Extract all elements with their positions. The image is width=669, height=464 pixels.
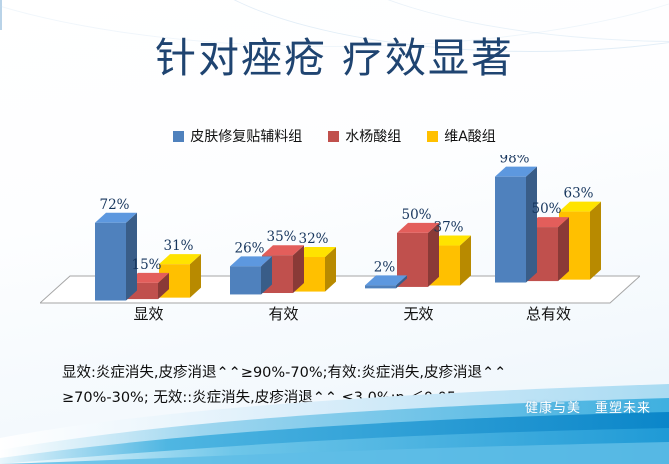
bar-3-0 — [495, 167, 537, 283]
category-label-2: 无效 — [403, 303, 433, 324]
bar-1-0 — [230, 256, 272, 294]
value-label-3: 32% — [298, 231, 328, 247]
category-label-0: 显效 — [133, 303, 163, 324]
legend-swatch-blue — [173, 131, 184, 142]
bar-chart-3d[interactable]: 31%15%72%32%35%26%37%50%2%63%50%98% — [40, 155, 640, 320]
legend-swatch-yellow — [427, 131, 438, 142]
footer-tagline: 健康与美 重塑未来 — [525, 397, 651, 416]
legend-label-2: 维A酸组 — [444, 126, 496, 146]
legend-label-0: 皮肤修复贴辅料组 — [190, 126, 302, 146]
slide-title: 针对痤疮 疗效显著 — [0, 34, 669, 82]
left-edge-accent — [0, 0, 2, 30]
footer-wave-graphic — [0, 372, 669, 464]
legend-swatch-red — [328, 131, 339, 142]
value-label-7: 50% — [401, 207, 431, 223]
value-label-11: 98% — [499, 155, 529, 167]
legend-label-1: 水杨酸组 — [345, 126, 401, 146]
legend-item-1[interactable]: 水杨酸组 — [328, 126, 401, 146]
chart-legend: 皮肤修复贴辅料组 水杨酸组 维A酸组 — [0, 126, 669, 146]
value-label-5: 26% — [234, 240, 264, 256]
value-label-0: 31% — [163, 238, 193, 254]
legend-item-0[interactable]: 皮肤修复贴辅料组 — [173, 126, 302, 146]
value-label-9: 63% — [563, 186, 593, 202]
value-label-2: 72% — [99, 197, 129, 213]
chart-category-labels: 显效有效无效总有效 — [40, 303, 640, 325]
category-label-3: 总有效 — [526, 303, 571, 324]
slide-canvas: 针对痤疮 疗效显著 皮肤修复贴辅料组 水杨酸组 维A酸组 31%15%72%32… — [0, 0, 669, 464]
value-label-6: 37% — [433, 220, 463, 236]
value-label-8: 2% — [374, 259, 396, 275]
legend-item-2[interactable]: 维A酸组 — [427, 126, 496, 146]
category-label-1: 有效 — [268, 303, 298, 324]
value-label-1: 15% — [131, 257, 161, 273]
value-label-4: 35% — [266, 229, 296, 245]
value-label-10: 50% — [531, 201, 561, 217]
